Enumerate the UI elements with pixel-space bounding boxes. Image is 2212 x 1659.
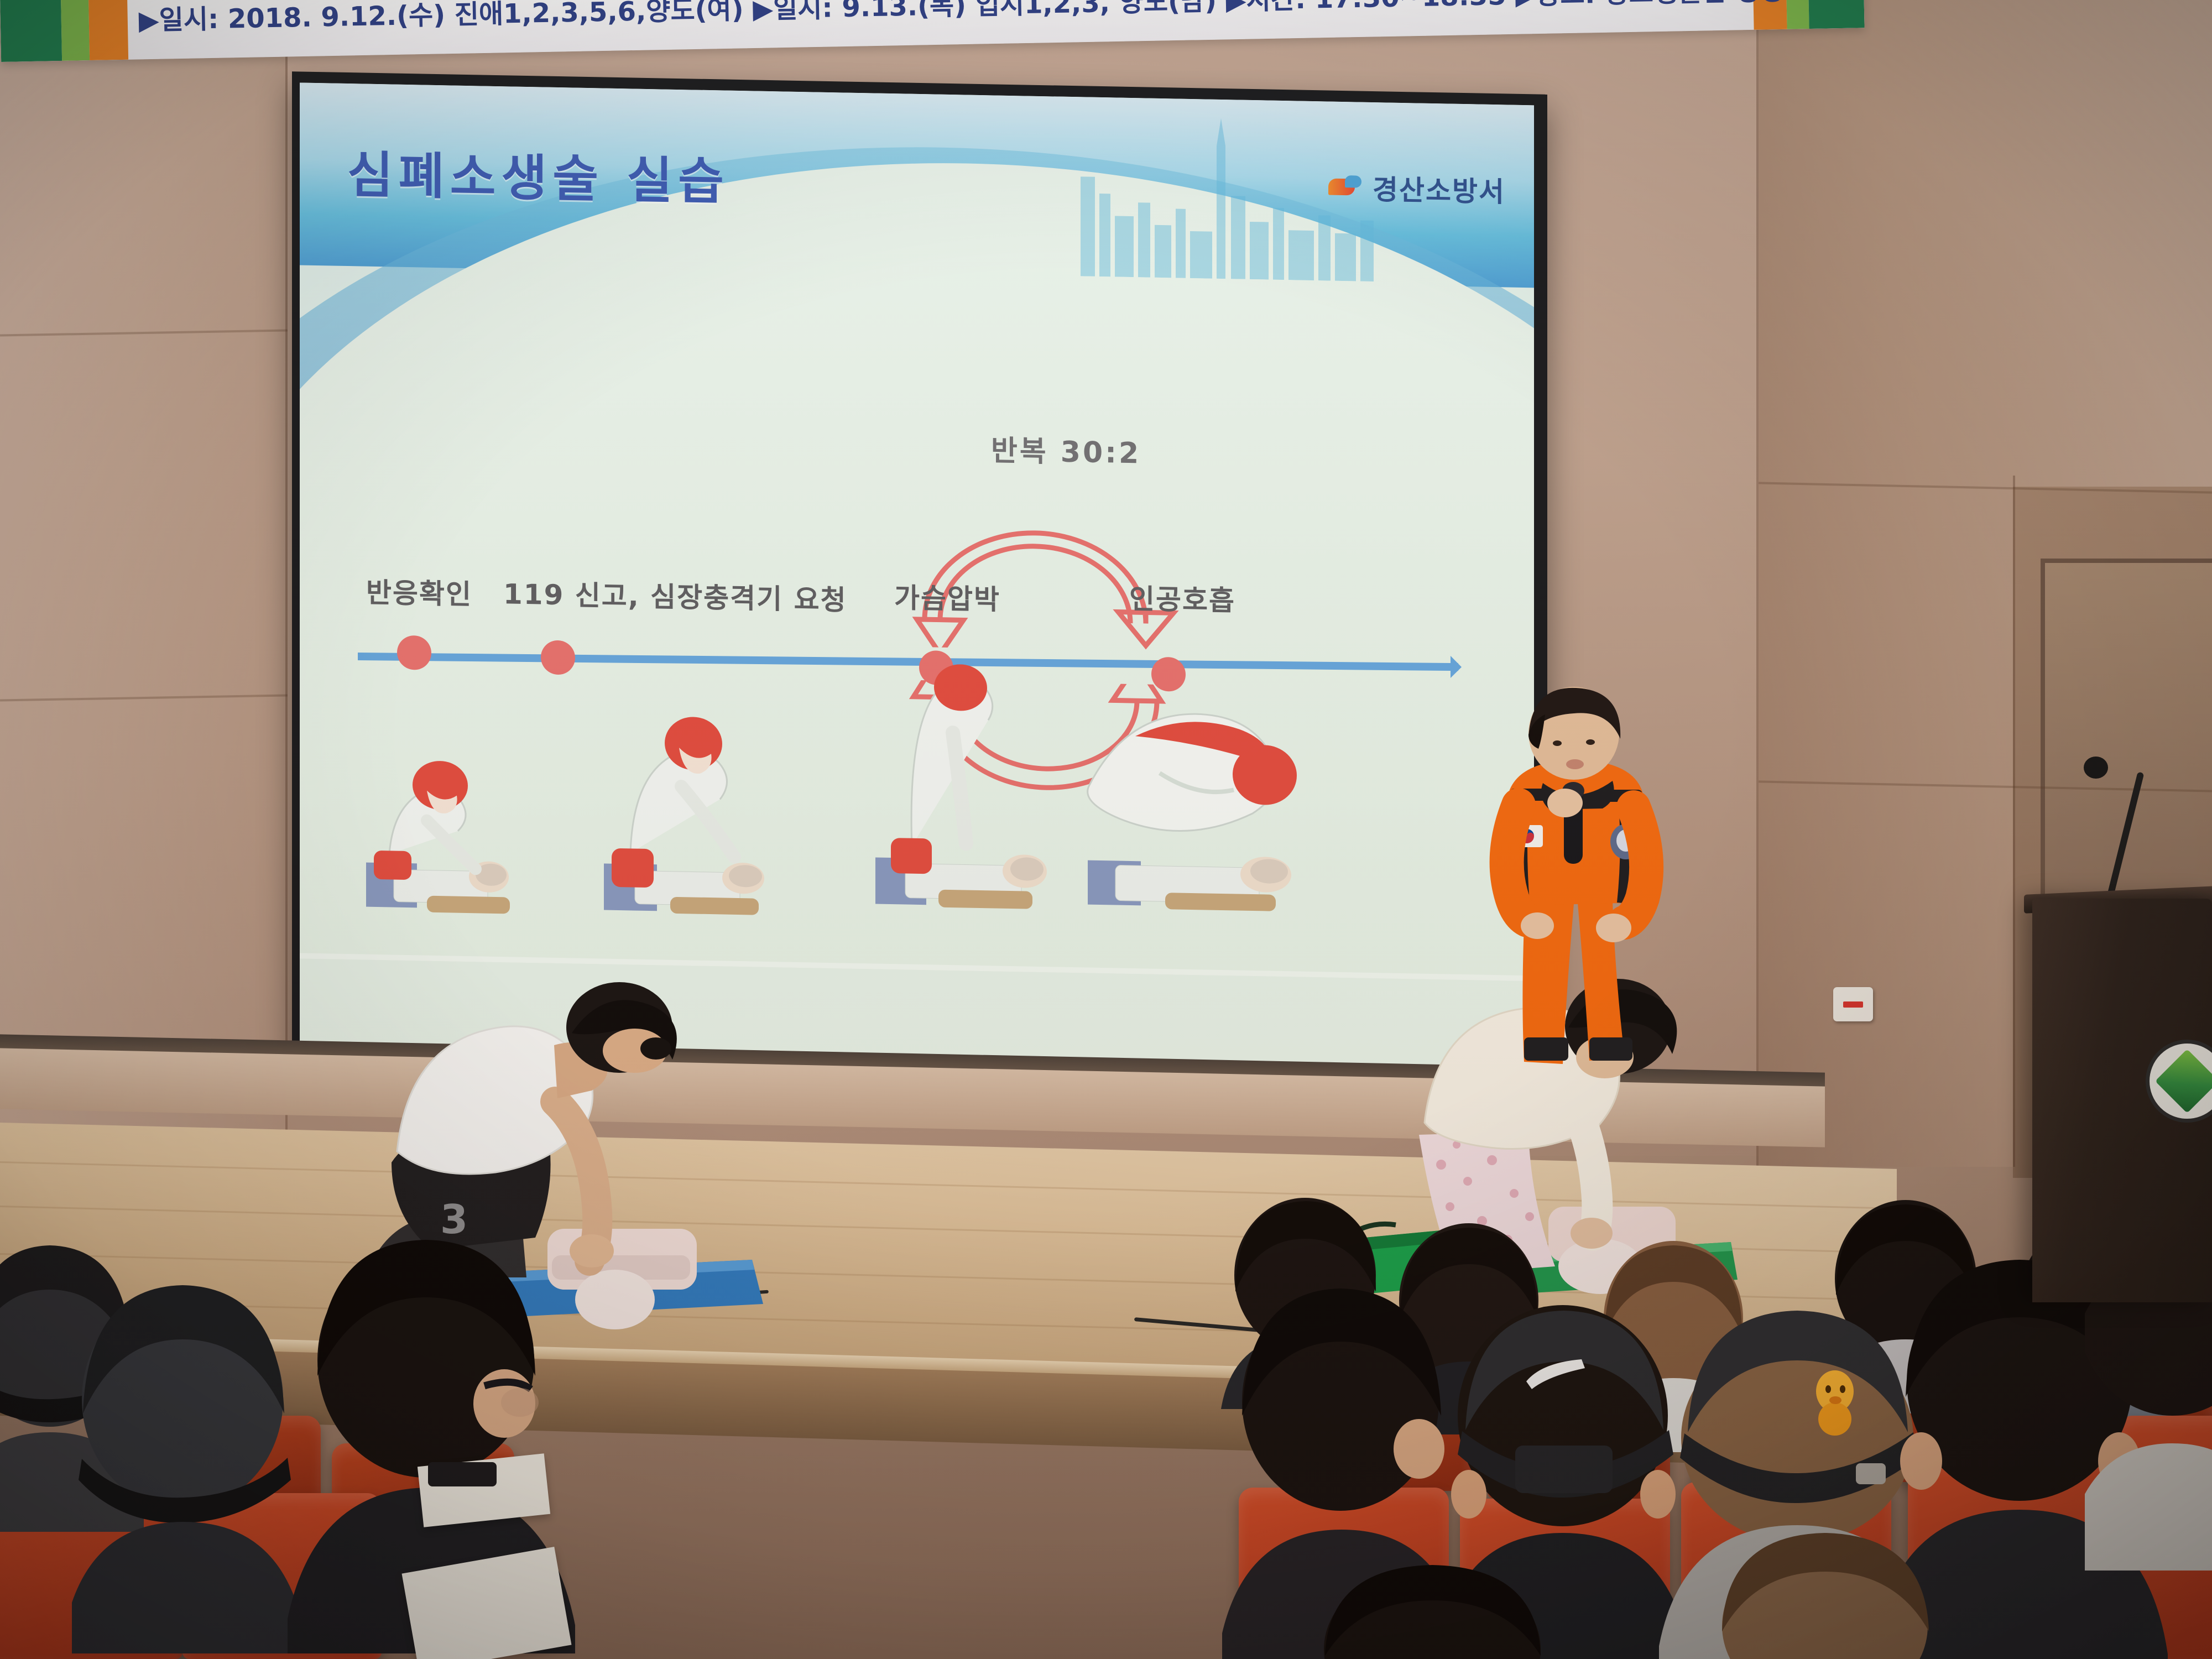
step-label-1: 반응확인	[366, 571, 472, 613]
instructor-firefighter	[1460, 686, 1692, 1073]
banner-text: ▶일시: 2018. 9.12.(수) 진애1,2,3,5,6,양도(여) ▶일…	[138, 0, 1785, 37]
cycle-arrow-top-icon	[886, 481, 1196, 652]
flame-icon	[1328, 174, 1365, 200]
cpr-illustration-4	[1082, 688, 1342, 915]
timeline-node-4	[1151, 657, 1186, 692]
timeline-node-1	[397, 635, 431, 670]
cpr-slide: 심폐소생술 실습 경산소방서 반복 30:2	[300, 82, 1534, 1066]
audience-member	[1714, 1532, 1936, 1659]
wall-panel-left	[0, 0, 288, 1178]
wall-seam	[285, 0, 288, 1161]
cpr-illustration-2	[598, 707, 781, 921]
audience-member	[1316, 1565, 1548, 1659]
projection-screen-frame: 심폐소생술 실습 경산소방서 반복 30:2	[292, 71, 1547, 1084]
step-label-3: 가슴압박	[894, 576, 1000, 618]
crest-leaf-icon	[2155, 1049, 2212, 1113]
banner-stripe-green	[1808, 0, 1864, 29]
projection-screen: 심폐소생술 실습 경산소방서 반복 30:2	[300, 82, 1534, 1066]
banner-stripe-green	[0, 0, 62, 62]
wall-seam	[2013, 476, 2015, 1167]
step-label-4: 인공호흡	[1129, 577, 1235, 619]
slide-title: 심폐소생술 실습	[347, 134, 729, 213]
banner-stripe-lightgreen	[61, 0, 90, 61]
repeat-ratio-label: 반복 30:2	[991, 427, 1141, 471]
timeline-node-2	[541, 640, 575, 675]
cpr-illustration-1	[361, 736, 526, 916]
cpr-illustration-3	[872, 662, 1055, 915]
audience-member-with-beanie	[72, 1272, 304, 1659]
podium-microphone-head-icon	[2084, 757, 2108, 779]
org-logo: 경산소방서	[1328, 167, 1505, 210]
smartphone[interactable]	[427, 1460, 499, 1491]
wall-light-switch[interactable]	[1833, 987, 1873, 1021]
banner-stripe-lightgreen	[1786, 0, 1809, 29]
photo-scene: 심폐소생술 실습 경산소방서 반복 30:2	[0, 0, 2212, 1659]
step-label-2: 119 신고, 심장충격기 요청	[503, 572, 847, 618]
banner-stripe-orange	[88, 0, 128, 60]
org-logo-text: 경산소방서	[1373, 168, 1505, 210]
